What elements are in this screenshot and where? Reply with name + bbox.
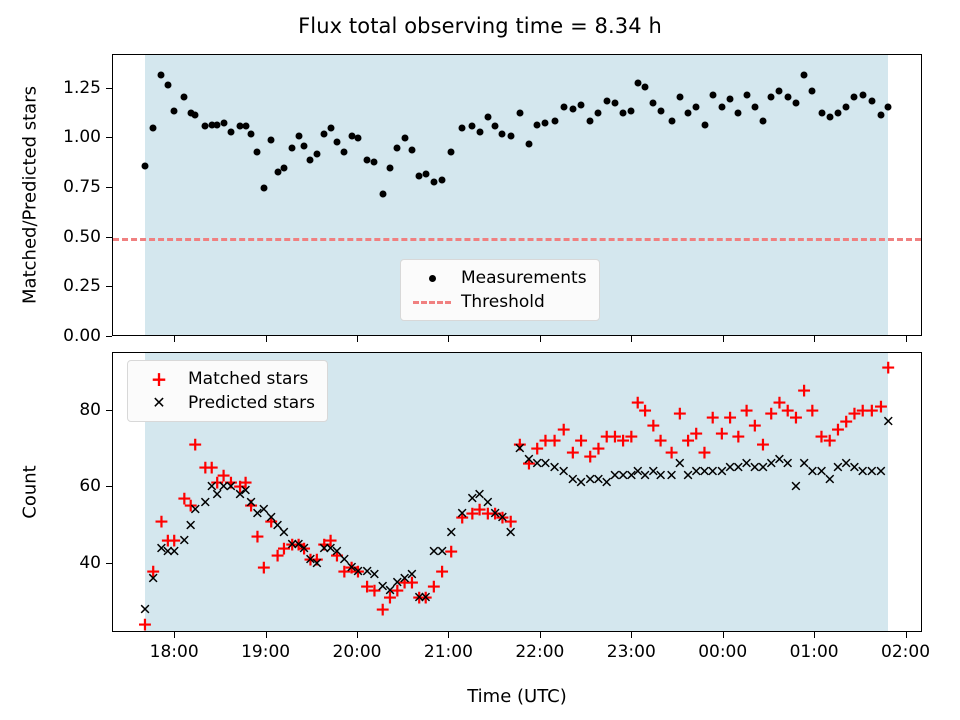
data-point — [784, 93, 791, 100]
legend-label: Threshold — [461, 292, 545, 312]
data-point — [379, 191, 386, 198]
xtick-label: 18:00 — [150, 642, 199, 662]
data-point: + — [623, 428, 639, 447]
legend-label: Measurements — [461, 268, 587, 288]
data-point — [364, 157, 371, 164]
data-point — [578, 101, 585, 108]
data-point: ✕ — [445, 526, 458, 541]
ytick-label: 40 — [79, 553, 101, 573]
data-point: ✕ — [790, 480, 803, 495]
data-point — [595, 109, 602, 116]
data-point: + — [672, 405, 688, 424]
top-panel-legend: MeasurementsThreshold — [400, 259, 600, 321]
data-point: + — [187, 436, 203, 455]
data-point — [469, 123, 476, 130]
data-point: ✕ — [311, 556, 324, 571]
ytick-label: 0.00 — [63, 326, 101, 346]
legend-key-dot-icon — [409, 267, 455, 289]
data-point — [776, 87, 783, 94]
data-point — [181, 93, 188, 100]
top-threshold-line — [113, 238, 921, 241]
data-point — [171, 107, 178, 114]
top-xtick — [814, 336, 815, 342]
bottom-xtick — [723, 632, 724, 638]
xtick-label: 01:00 — [790, 642, 839, 662]
data-point — [818, 109, 825, 116]
ytick-label: 1.00 — [63, 127, 101, 147]
xtick-label: 23:00 — [607, 642, 656, 662]
ytick-label: 0.25 — [63, 276, 101, 296]
data-point — [801, 71, 808, 78]
data-point — [516, 109, 523, 116]
data-point — [620, 109, 627, 116]
bottom-xtick — [266, 632, 267, 638]
data-point: ✕ — [436, 545, 449, 560]
data-point: + — [804, 401, 820, 420]
data-point — [313, 151, 320, 158]
top-ytick — [106, 286, 112, 287]
xtick-label: 22:00 — [515, 642, 564, 662]
data-point — [569, 105, 576, 112]
figure-root: Flux total observing time = 8.34 h Match… — [0, 0, 960, 720]
data-point: ✕ — [875, 464, 888, 479]
data-point: + — [788, 409, 804, 428]
data-point — [885, 103, 892, 110]
top-ytick — [106, 137, 112, 138]
data-point: ✕ — [504, 526, 517, 541]
top-xtick — [266, 336, 267, 342]
data-point: ✕ — [456, 507, 469, 522]
top-ytick — [106, 237, 112, 238]
data-point — [834, 109, 841, 116]
data-point — [634, 79, 641, 86]
bottom-xtick — [174, 632, 175, 638]
data-point — [408, 147, 415, 154]
data-point — [718, 103, 725, 110]
data-point — [877, 111, 884, 118]
dashed-line-icon — [413, 301, 451, 304]
data-point — [459, 125, 466, 132]
top-ytick — [106, 187, 112, 188]
legend-entry: +Matched stars — [136, 367, 315, 391]
data-point — [327, 125, 334, 132]
data-point — [843, 103, 850, 110]
xtick-label: 00:00 — [698, 642, 747, 662]
data-point — [676, 93, 683, 100]
top-xtick — [723, 336, 724, 342]
bottom-xtick — [631, 632, 632, 638]
data-point — [657, 107, 664, 114]
ytick-label: 0.75 — [63, 177, 101, 197]
data-point — [525, 141, 532, 148]
data-point — [192, 111, 199, 118]
data-point — [371, 159, 378, 166]
data-point — [280, 165, 287, 172]
bottom-ytick — [106, 410, 112, 411]
data-point: ✕ — [406, 568, 419, 583]
data-point — [826, 113, 833, 120]
data-point — [709, 91, 716, 98]
data-point — [150, 125, 157, 132]
bottom-xtick — [448, 632, 449, 638]
data-point: + — [747, 416, 763, 435]
data-point: + — [755, 436, 771, 455]
top-xtick — [540, 336, 541, 342]
bottom-panel-ylabel: Count — [20, 465, 41, 518]
xtick-label: 19:00 — [241, 642, 290, 662]
top-xtick — [631, 336, 632, 342]
legend-label: Predicted stars — [188, 393, 315, 413]
data-point — [307, 157, 314, 164]
top-xtick — [174, 336, 175, 342]
data-point — [242, 123, 249, 130]
top-panel-ylabel: Matched/Predicted stars — [20, 86, 41, 304]
ytick-label: 0.50 — [63, 227, 101, 247]
xtick-label: 21:00 — [424, 642, 473, 662]
data-point — [685, 109, 692, 116]
data-point — [430, 179, 437, 186]
dot-icon — [429, 275, 436, 282]
data-point: ✕ — [419, 591, 432, 606]
data-point — [809, 87, 816, 94]
data-point: + — [153, 512, 169, 531]
data-point: + — [697, 443, 713, 462]
data-point — [551, 117, 558, 124]
data-point — [248, 131, 255, 138]
data-point — [289, 145, 296, 152]
data-point — [542, 119, 549, 126]
data-point — [141, 163, 148, 170]
bottom-panel-xlabel: Time (UTC) — [112, 686, 922, 707]
data-point — [301, 143, 308, 150]
data-point — [401, 135, 408, 142]
data-point — [321, 131, 328, 138]
data-point — [851, 93, 858, 100]
data-point — [650, 99, 657, 106]
data-point — [422, 171, 429, 178]
data-point — [735, 109, 742, 116]
data-point — [792, 99, 799, 106]
data-point — [560, 103, 567, 110]
data-point — [268, 137, 275, 144]
data-point — [611, 99, 618, 106]
bottom-xtick — [906, 632, 907, 638]
data-point — [254, 149, 261, 156]
data-point: ✕ — [184, 518, 197, 533]
data-point — [859, 91, 866, 98]
data-point — [260, 185, 267, 192]
data-point — [668, 117, 675, 124]
bottom-panel-legend: +Matched stars✕Predicted stars — [127, 360, 328, 422]
data-point — [628, 107, 635, 114]
data-point: ✕ — [139, 602, 152, 617]
data-point — [158, 71, 165, 78]
legend-key-cross-icon: ✕ — [136, 392, 182, 414]
data-point: + — [434, 562, 450, 581]
data-point: + — [688, 424, 704, 443]
data-point — [534, 121, 541, 128]
data-point: + — [722, 409, 738, 428]
data-point — [587, 117, 594, 124]
data-point — [439, 177, 446, 184]
data-point — [394, 145, 401, 152]
bottom-ytick — [106, 486, 112, 487]
page-title: Flux total observing time = 8.34 h — [0, 14, 960, 38]
data-point — [743, 91, 750, 98]
data-point — [387, 165, 394, 172]
bottom-xtick — [357, 632, 358, 638]
top-ytick — [106, 336, 112, 337]
data-point: + — [556, 420, 572, 439]
legend-key-dashed-line-icon — [409, 291, 455, 313]
top-xtick — [448, 336, 449, 342]
ytick-label: 80 — [79, 400, 101, 420]
top-ytick — [106, 88, 112, 89]
data-point — [603, 97, 610, 104]
data-point: ✕ — [781, 457, 794, 472]
data-point — [164, 81, 171, 88]
data-point — [341, 149, 348, 156]
data-point — [701, 121, 708, 128]
legend-entry: Threshold — [409, 290, 587, 314]
legend-label: Matched stars — [188, 369, 308, 389]
ytick-label: 1.25 — [63, 78, 101, 98]
xtick-label: 02:00 — [881, 642, 930, 662]
data-point: ✕ — [178, 533, 191, 548]
data-point — [768, 93, 775, 100]
bottom-ytick — [106, 563, 112, 564]
data-point: ✕ — [199, 495, 212, 510]
data-point: ✕ — [882, 415, 895, 430]
legend-entry: ✕Predicted stars — [136, 391, 315, 415]
data-point: + — [880, 359, 896, 378]
data-point — [751, 103, 758, 110]
data-point — [227, 129, 234, 136]
top-xtick — [357, 336, 358, 342]
data-point — [868, 97, 875, 104]
data-point — [760, 117, 767, 124]
ytick-label: 60 — [79, 476, 101, 496]
data-point — [507, 133, 514, 140]
data-point — [295, 133, 302, 140]
data-point — [333, 139, 340, 146]
xtick-label: 20:00 — [333, 642, 382, 662]
data-point — [220, 119, 227, 126]
bottom-xtick — [540, 632, 541, 638]
data-point — [693, 103, 700, 110]
top-xtick — [906, 336, 907, 342]
data-point — [484, 113, 491, 120]
data-point — [492, 123, 499, 130]
data-point — [355, 135, 362, 142]
data-point — [476, 129, 483, 136]
data-point: + — [730, 428, 746, 447]
data-point — [642, 83, 649, 90]
data-point: ✕ — [147, 572, 160, 587]
data-point — [499, 131, 506, 138]
legend-key-plus-icon: + — [136, 368, 182, 390]
legend-entry: Measurements — [409, 266, 587, 290]
plus-icon: + — [151, 369, 168, 389]
data-point — [727, 95, 734, 102]
data-point: + — [796, 382, 812, 401]
cross-icon: ✕ — [152, 395, 165, 411]
bottom-xtick — [814, 632, 815, 638]
data-point — [448, 149, 455, 156]
